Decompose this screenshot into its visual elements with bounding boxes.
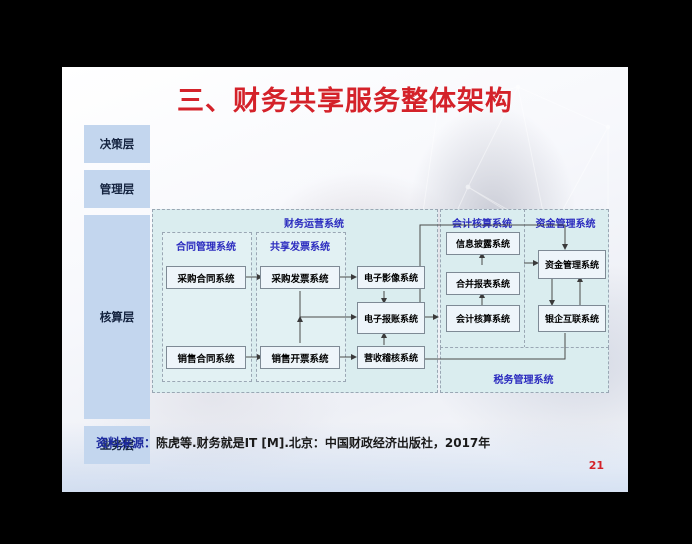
- node-fund-management[interactable]: 资金管理系统: [538, 250, 606, 279]
- node-purchase-invoice[interactable]: 采购发票系统: [260, 266, 340, 289]
- node-label: 电子报账系统: [364, 312, 418, 325]
- source-citation: 资料来源：陈虎等.财务就是IT [M].北京：中国财政经济出版社，2017年: [96, 434, 490, 451]
- layer-accounting: 核算层: [84, 215, 150, 419]
- node-bank-enterprise-link[interactable]: 银企互联系统: [538, 305, 606, 332]
- node-label: 会计核算系统: [456, 312, 510, 325]
- page-number: 21: [589, 459, 604, 472]
- node-electronic-image[interactable]: 电子影像系统: [357, 266, 425, 289]
- node-purchase-contract[interactable]: 采购合同系统: [166, 266, 246, 289]
- node-label: 信息披露系统: [456, 237, 510, 250]
- node-label: 电子影像系统: [364, 271, 418, 284]
- layer-management: 管理层: [84, 170, 150, 208]
- node-electronic-reimbursement[interactable]: 电子报账系统: [357, 302, 425, 334]
- node-sales-contract[interactable]: 销售合同系统: [166, 346, 246, 369]
- source-label: 资料来源：: [96, 436, 156, 450]
- node-label: 营收稽核系统: [364, 351, 418, 364]
- layer-label: 管理层: [100, 181, 135, 197]
- layer-decision: 决策层: [84, 125, 150, 163]
- node-label: 资金管理系统: [545, 258, 599, 271]
- slide-viewer: 三、财务共享服务整体架构 决策层 管理层 核算层 业务层 财务运营系统 会计核算…: [0, 0, 692, 544]
- node-revenue-audit[interactable]: 营收稽核系统: [357, 346, 425, 369]
- layer-label: 决策层: [100, 136, 135, 152]
- node-label: 采购合同系统: [177, 271, 234, 285]
- node-label: 银企互联系统: [545, 312, 599, 325]
- page-title: 三、财务共享服务整体架构: [62, 79, 628, 118]
- presentation-slide: 三、财务共享服务整体架构 决策层 管理层 核算层 业务层 财务运营系统 会计核算…: [62, 67, 628, 492]
- node-label: 销售开票系统: [271, 351, 328, 365]
- node-sales-billing[interactable]: 销售开票系统: [260, 346, 340, 369]
- node-accounting-core[interactable]: 会计核算系统: [446, 305, 520, 332]
- source-text: 陈虎等.财务就是IT [M].北京：中国财政经济出版社，2017年: [156, 436, 490, 450]
- node-consolidated-report[interactable]: 合并报表系统: [446, 272, 520, 295]
- node-label: 合并报表系统: [456, 277, 510, 290]
- node-information-disclosure[interactable]: 信息披露系统: [446, 232, 520, 255]
- node-label: 销售合同系统: [177, 351, 234, 365]
- node-label: 采购发票系统: [271, 271, 328, 285]
- layer-label: 核算层: [100, 309, 135, 325]
- architecture-diagram: 财务运营系统 会计核算系统 资金管理系统 税务管理系统 合同管理系统 共享发票系…: [152, 209, 607, 391]
